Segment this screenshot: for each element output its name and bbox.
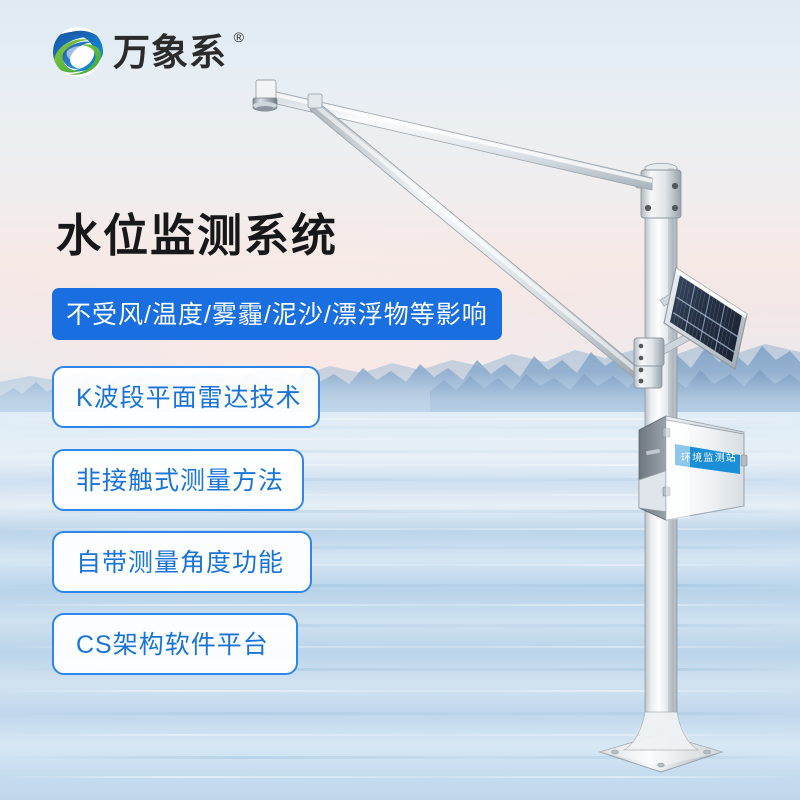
feature-pill-3[interactable]: 自带测量角度功能 [52, 531, 312, 593]
radar-sensor-icon [253, 98, 277, 111]
globe-swirl-logo-icon [52, 26, 104, 78]
page-title: 水位监测系统 [56, 213, 338, 258]
feature-pill-2[interactable]: 非接触式测量方法 [52, 449, 304, 511]
base-plate [600, 712, 722, 772]
brand-name-wrap: 万象系 ® [113, 34, 243, 71]
registered-trademark-icon: ® [234, 30, 245, 44]
brand-logo[interactable]: 万象系 ® [52, 26, 243, 78]
control-cabinet: 环境监测站 [639, 416, 747, 520]
feature-pill-1[interactable]: K波段平面雷达技术 [52, 366, 320, 428]
poster-canvas: 环境监测站 [0, 0, 800, 800]
feature-pill-4[interactable]: CS架构软件平台 [52, 613, 298, 675]
diagonal-brace [308, 94, 662, 388]
sub-banner: 不受风/温度/雾霾/泥沙/漂浮物等影响 [52, 288, 502, 340]
brand-name: 万象系 [113, 32, 227, 73]
